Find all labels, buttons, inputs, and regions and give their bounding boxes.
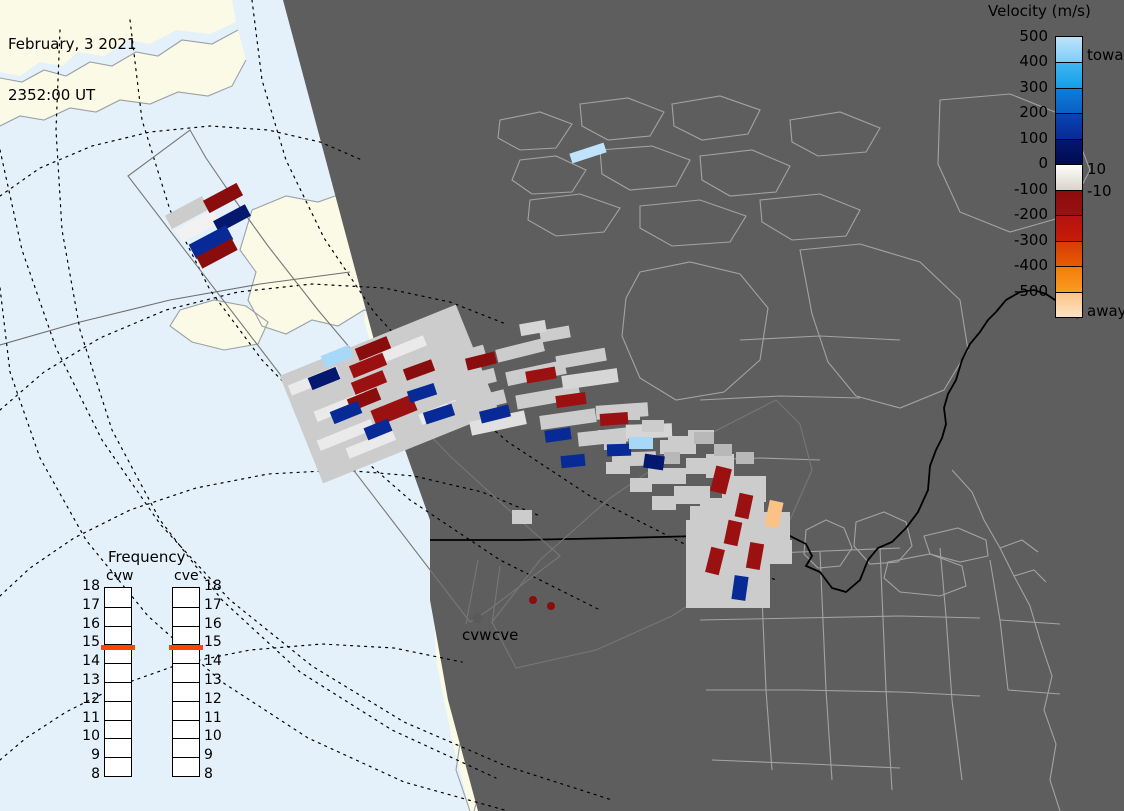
colorbar-separator [1056, 190, 1082, 191]
site-label-cve: cve [492, 626, 518, 644]
frequency-segment [105, 663, 131, 664]
colorbar-band--450 [1056, 292, 1082, 317]
frequency-tick-11: 11 [76, 710, 100, 726]
colorbar-gradient [1055, 36, 1083, 318]
colorbar-separator [1056, 113, 1082, 114]
colorbar-separator [1056, 292, 1082, 293]
frequency-marker-cve [169, 645, 203, 650]
map-canvas: February, 3 2021 2352:00 UT Velocity (m/… [0, 0, 1124, 811]
frequency-segment [173, 682, 199, 683]
colorbar-separator [1056, 266, 1082, 267]
colorbar-tick-300: 300 [988, 78, 1048, 96]
frequency-tick-17: 17 [204, 597, 228, 613]
velocity-cell-60 [643, 454, 665, 471]
colorbar-toward-label: toward [1087, 46, 1124, 64]
timestamp-block: February, 3 2021 2352:00 UT [8, 2, 137, 138]
frequency-tick-16: 16 [76, 616, 100, 632]
velocity-cell--80 [600, 412, 629, 426]
colorbar-separator [1056, 62, 1082, 63]
colorbar-tick-500: 500 [988, 27, 1048, 45]
frequency-marker-cvw [101, 645, 135, 650]
frequency-tick-8: 8 [204, 766, 228, 782]
colorbar-tick-400: 400 [988, 52, 1048, 70]
colorbar-tick--100: -100 [988, 180, 1048, 198]
frequency-tick-10: 10 [204, 728, 228, 744]
frequency-tick-14: 14 [204, 653, 228, 669]
frequency-segment [173, 663, 199, 664]
colorbar-positive-threshold: 10 [1087, 160, 1106, 178]
radar-site-marker [472, 613, 482, 623]
velocity-cell-380 [629, 437, 653, 449]
colorbar-title: Velocity (m/s) [988, 2, 1091, 20]
colorbar-tick--400: -400 [988, 256, 1048, 274]
frequency-tick-15: 15 [76, 634, 100, 650]
frequency-segment [105, 738, 131, 739]
frequency-column-label-cve: cve [174, 568, 199, 584]
velocity-cell-120 [607, 444, 631, 457]
colorbar-away-label: away [1087, 302, 1124, 320]
colorbar-band--50 [1056, 190, 1082, 215]
frequency-bar-cvw [104, 587, 132, 777]
frequency-tick-18: 18 [76, 578, 100, 594]
frequency-tick-13: 13 [204, 672, 228, 688]
frequency-tick-16: 16 [204, 616, 228, 632]
frequency-segment [173, 738, 199, 739]
near-range-cell [529, 596, 537, 604]
frequency-column-label-cvw: cvw [106, 568, 133, 584]
colorbar-separator [1056, 139, 1082, 140]
velocity-colorbar: Velocity (m/s) 5004003002001000-100-200-… [986, 0, 1124, 340]
velocity-cell-120 [560, 454, 585, 468]
frequency-tick-12: 12 [204, 691, 228, 707]
colorbar-band-450 [1056, 37, 1082, 62]
colorbar-band-0 [1056, 164, 1082, 189]
colorbar-band-150 [1056, 113, 1082, 138]
colorbar-tick-0: 0 [988, 154, 1048, 172]
frequency-segment [173, 757, 199, 758]
site-label-cvw: cvw [462, 626, 491, 644]
colorbar-tick--200: -200 [988, 205, 1048, 223]
frequency-tick-11: 11 [204, 710, 228, 726]
colorbar-separator [1056, 241, 1082, 242]
frequency-segment [105, 757, 131, 758]
frequency-tick-8: 8 [76, 766, 100, 782]
frequency-tick-10: 10 [76, 728, 100, 744]
frequency-segment [173, 720, 199, 721]
frequency-segment [105, 626, 131, 627]
colorbar-band-50 [1056, 139, 1082, 164]
frequency-segment [105, 720, 131, 721]
colorbar-separator [1056, 88, 1082, 89]
frequency-title: Frequency [108, 548, 186, 566]
frequency-bar-cve [172, 587, 200, 777]
frequency-tick-15: 15 [204, 634, 228, 650]
frequency-tick-18: 18 [204, 578, 228, 594]
frequency-segment [105, 607, 131, 608]
frequency-legend: Frequency cvw cve 18171615141312111098 1… [86, 548, 236, 788]
colorbar-tick-200: 200 [988, 103, 1048, 121]
frequency-segment [173, 701, 199, 702]
colorbar-separator [1056, 164, 1082, 165]
colorbar-band-350 [1056, 62, 1082, 87]
frequency-tick-9: 9 [76, 747, 100, 763]
colorbar-band--250 [1056, 241, 1082, 266]
colorbar-negative-threshold: -10 [1087, 182, 1112, 200]
colorbar-band-250 [1056, 88, 1082, 113]
frequency-tick-12: 12 [76, 691, 100, 707]
timestamp-time: 2352:00 UT [8, 87, 137, 104]
frequency-tick-9: 9 [204, 747, 228, 763]
frequency-segment [173, 626, 199, 627]
colorbar-separator [1056, 215, 1082, 216]
colorbar-tick-100: 100 [988, 129, 1048, 147]
near-range-cell [547, 602, 555, 610]
frequency-tick-14: 14 [76, 653, 100, 669]
frequency-tick-17: 17 [76, 597, 100, 613]
frequency-segment [105, 701, 131, 702]
colorbar-tick--300: -300 [988, 231, 1048, 249]
frequency-tick-13: 13 [76, 672, 100, 688]
colorbar-band--150 [1056, 215, 1082, 240]
frequency-segment [105, 682, 131, 683]
colorbar-band--350 [1056, 266, 1082, 291]
frequency-segment [173, 607, 199, 608]
colorbar-tick--500: -500 [988, 282, 1048, 300]
timestamp-date: February, 3 2021 [8, 36, 137, 53]
